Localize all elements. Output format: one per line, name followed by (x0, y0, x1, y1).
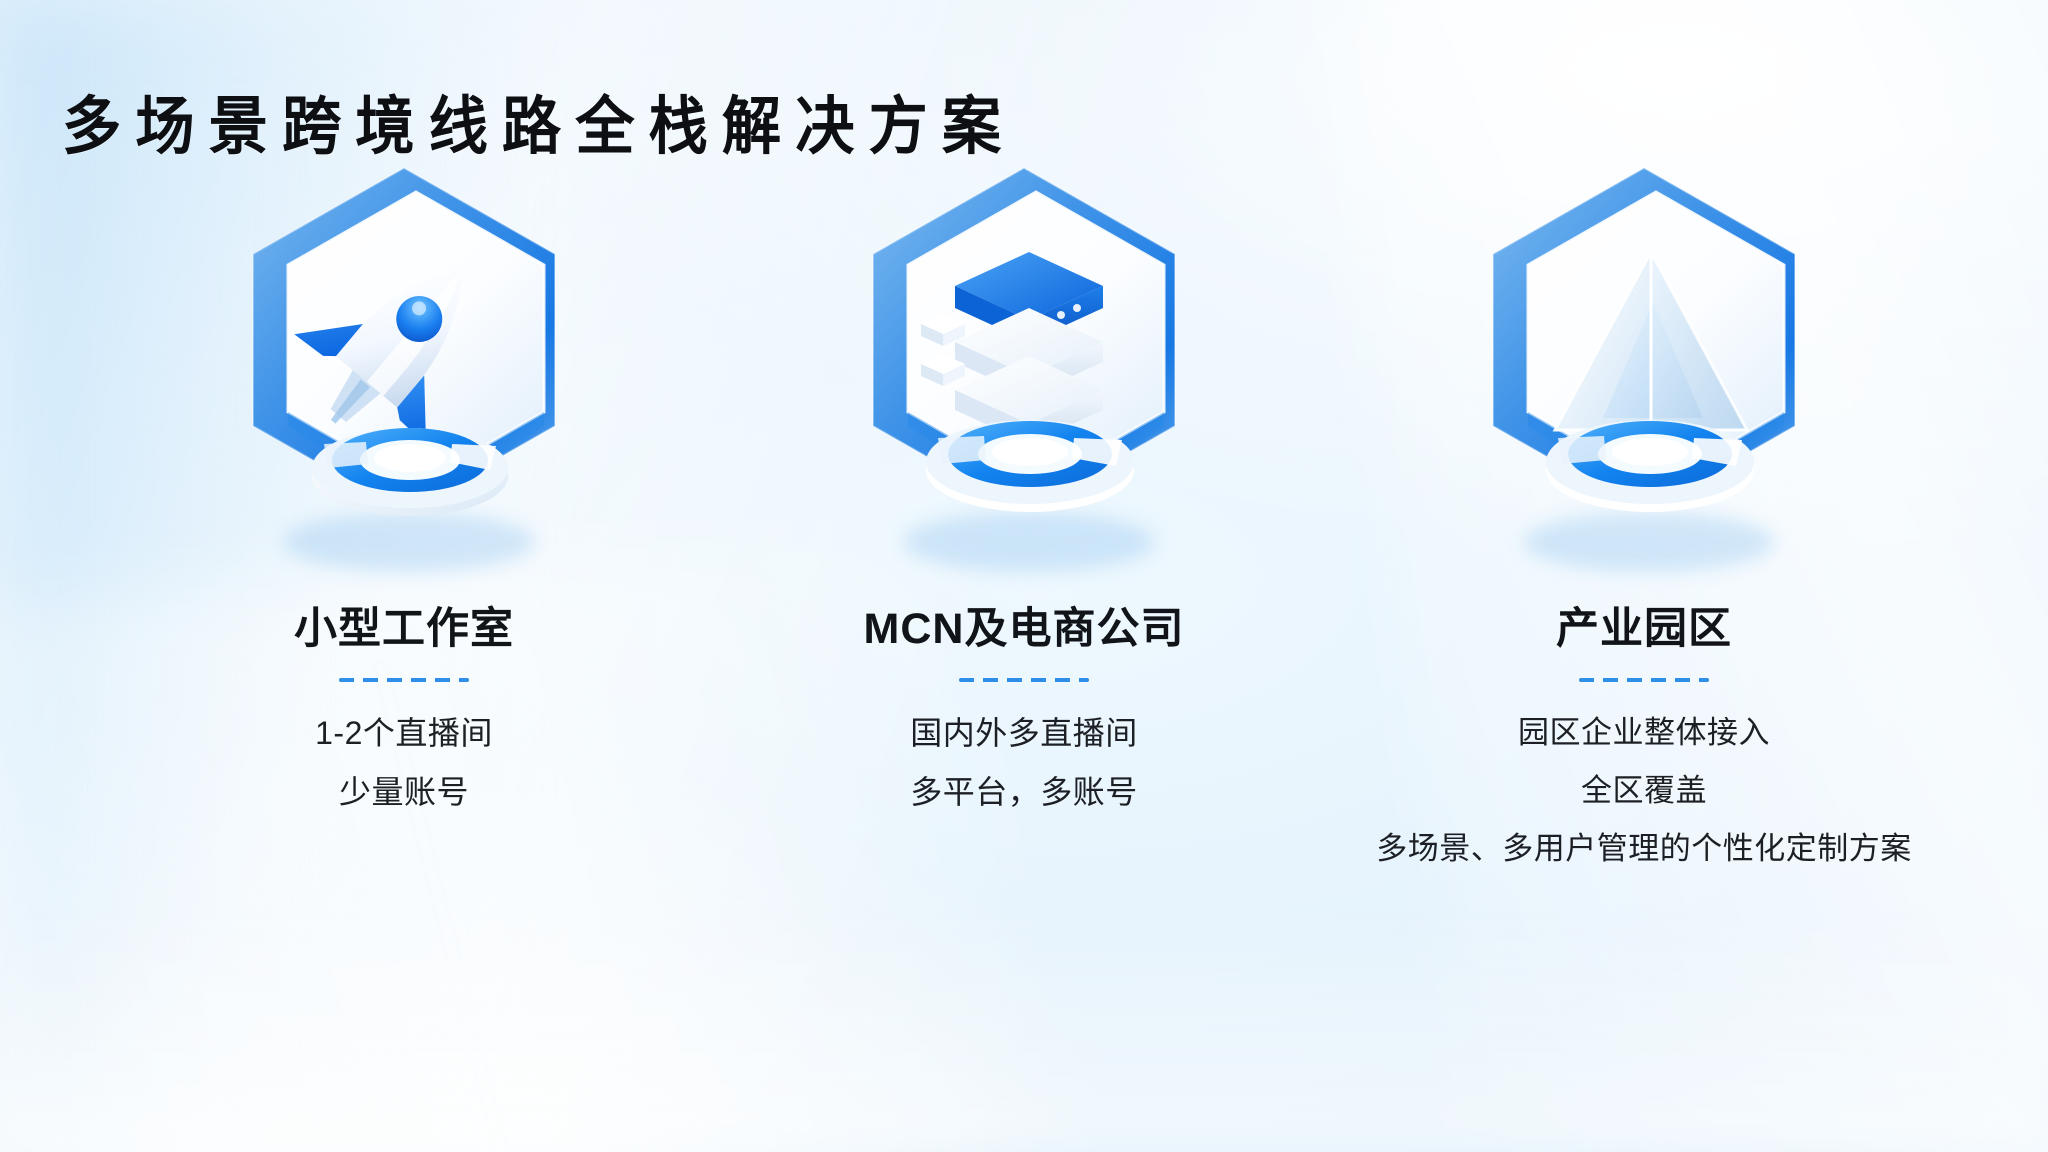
card-description-line: 多平台，多账号 (910, 771, 1138, 814)
scenario-card-1[interactable]: 小型工作室 1-2个直播间 少量账号 (94, 150, 714, 814)
card-description: 园区企业整体接入 全区覆盖 多场景、多用户管理的个性化定制方案 (1376, 712, 1912, 870)
scenario-card-3[interactable]: 产业园区 园区企业整体接入 全区覆盖 多场景、多用户管理的个性化定制方案 (1334, 150, 1954, 870)
card-title: 产业园区 (1556, 594, 1732, 656)
card-title: MCN及电商公司 (864, 594, 1185, 656)
card-description-line: 少量账号 (315, 771, 493, 814)
card-description-line: 多场景、多用户管理的个性化定制方案 (1376, 828, 1912, 870)
card-list: 小型工作室 1-2个直播间 少量账号 (0, 150, 2048, 1030)
dashed-divider (339, 678, 469, 682)
rocket-hexagon-icon (204, 150, 604, 590)
scenario-card-2[interactable]: MCN及电商公司 国内外多直播间 多平台，多账号 (714, 150, 1334, 814)
slide-canvas: 多场景跨境线路全栈解决方案 (0, 0, 2048, 1152)
dashed-divider (1579, 678, 1709, 682)
pyramid-hexagon-icon (1444, 150, 1844, 590)
server-stack-hexagon-icon (824, 150, 1224, 590)
card-description-line: 园区企业整体接入 (1376, 712, 1912, 754)
card-description-line: 全区覆盖 (1376, 770, 1912, 812)
card-description: 1-2个直播间 少量账号 (315, 712, 493, 814)
card-description: 国内外多直播间 多平台，多账号 (910, 712, 1138, 814)
card-description-line: 国内外多直播间 (910, 712, 1138, 755)
card-title: 小型工作室 (294, 594, 514, 656)
card-description-line: 1-2个直播间 (315, 712, 493, 755)
dashed-divider (959, 678, 1089, 682)
